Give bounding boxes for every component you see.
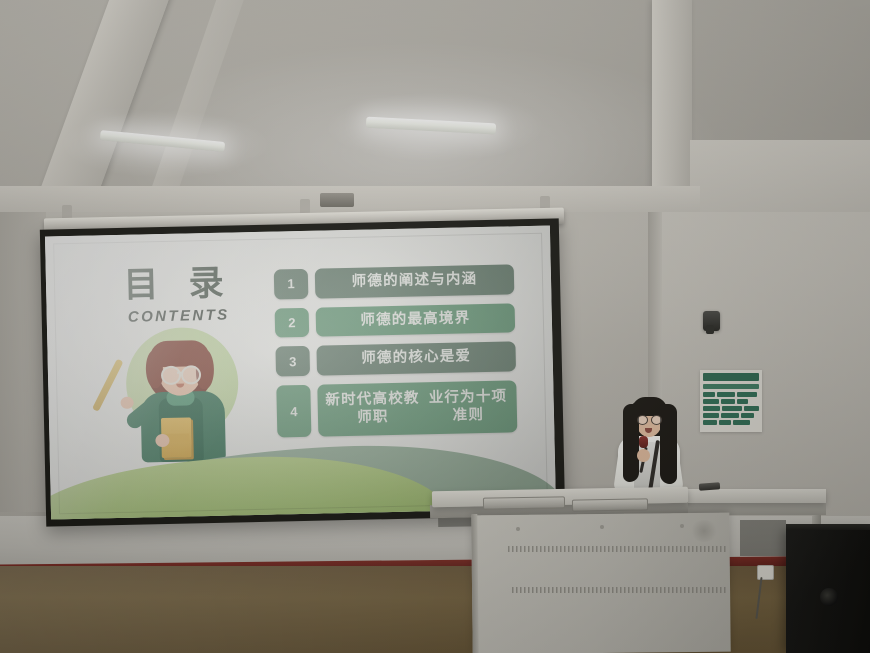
floor-sheen: [0, 566, 870, 653]
notice-cell: [703, 399, 719, 404]
ceiling-beam-vertical: [652, 0, 692, 212]
wall-camera-icon: [703, 311, 720, 331]
upper-right-wall-panel: [690, 140, 870, 220]
notice-cell: [737, 392, 757, 397]
podium-control-panel-left[interactable]: [483, 496, 565, 509]
presenter-lens-right: [651, 415, 662, 425]
screen-inner-border: [53, 233, 548, 515]
notice-cell: [733, 420, 750, 425]
presenter-glasses-icon: [637, 415, 661, 423]
lectern-screw: [600, 525, 604, 529]
podium-control-panel-right[interactable]: [572, 498, 648, 511]
lectern-screw: [516, 527, 520, 531]
notice-cell: [737, 399, 748, 404]
projection-screen: 目 录 CONTENTS: [45, 226, 556, 520]
notice-cell: [741, 413, 754, 418]
lectern-vent-row-1: [508, 546, 726, 552]
notice-header: [703, 373, 759, 381]
left-wall-edge: [0, 212, 46, 512]
notice-subheader: [703, 384, 759, 389]
under-desk-shadow: [740, 520, 786, 556]
presenter-lens-left: [637, 415, 648, 425]
notice-cell: [719, 420, 731, 425]
notice-cell: [703, 420, 717, 425]
notice-cell: [744, 406, 759, 411]
notice-grid: [703, 392, 759, 425]
lectern-screw: [680, 524, 684, 528]
notice-cell: [703, 392, 715, 397]
presenter-hand: [637, 449, 650, 462]
lecture-hall-photo: 目 录 CONTENTS: [0, 0, 870, 653]
lectern-smudge: [690, 520, 718, 542]
lectern-vent-row-2: [512, 587, 726, 593]
notice-cell: [703, 413, 719, 418]
phone-on-desk: [699, 482, 720, 490]
microphone-icon: [639, 436, 648, 448]
notice-cell: [721, 399, 735, 404]
notice-cell: [722, 406, 742, 411]
speaker-cone-icon: [820, 588, 838, 606]
screen-center-bracket: [320, 193, 354, 207]
notice-cell: [717, 392, 735, 397]
notice-cell: [721, 413, 739, 418]
presenter-hair-right: [660, 404, 677, 484]
notice-cell: [703, 406, 720, 411]
wall-notice-board: [700, 370, 762, 432]
